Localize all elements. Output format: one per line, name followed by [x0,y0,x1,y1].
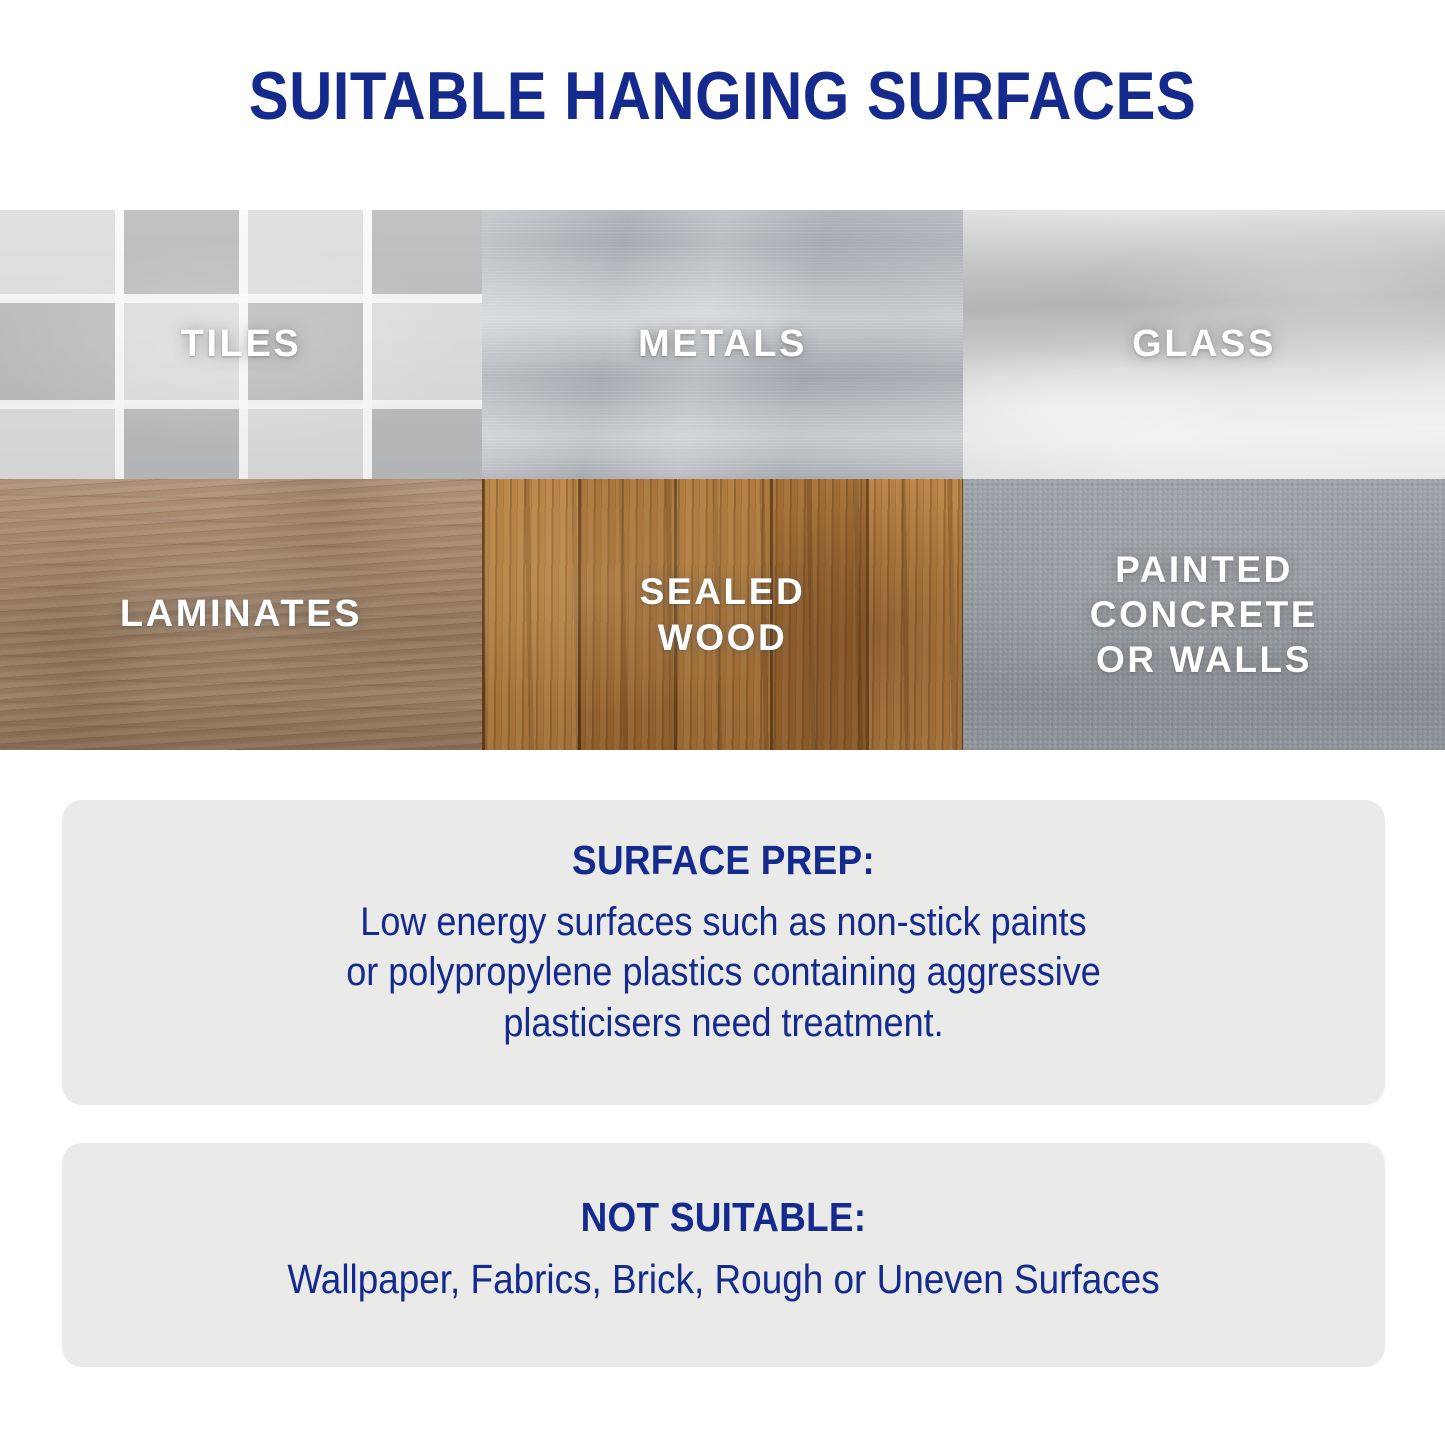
surface-cell-laminates: LAMINATES [0,479,482,750]
surface-label-glass: GLASS [1132,321,1276,367]
surface-prep-line: plasticisers need treatment. [171,998,1275,1048]
surface-cell-painted-concrete: PAINTED CONCRETE OR WALLS [963,479,1445,750]
surface-grid: TILES METALS GLASS LAMINATES SEALED WOOD… [0,210,1445,750]
surface-cell-glass: GLASS [963,210,1445,479]
not-suitable-body: Wallpaper, Fabrics, Brick, Rough or Unev… [171,1254,1275,1306]
surface-label-metals: METALS [638,321,807,367]
surface-label-painted-concrete: PAINTED CONCRETE OR WALLS [1090,547,1318,682]
surface-prep-panel: SURFACE PREP: Low energy surfaces such a… [62,800,1385,1105]
surface-label-laminates: LAMINATES [120,591,362,637]
surface-label-tiles: TILES [181,321,302,367]
not-suitable-panel: NOT SUITABLE: Wallpaper, Fabrics, Brick,… [62,1143,1385,1367]
page-title: SUITABLE HANGING SURFACES [87,62,1359,130]
surface-label-sealed-wood: SEALED WOOD [640,569,806,659]
surface-prep-body: Low energy surfaces such as non-stick pa… [171,897,1275,1048]
surface-prep-heading: SURFACE PREP: [171,838,1275,883]
surface-cell-tiles: TILES [0,210,482,479]
surface-prep-line: or polypropylene plastics containing agg… [171,947,1275,997]
not-suitable-heading: NOT SUITABLE: [171,1195,1275,1240]
surface-cell-metals: METALS [482,210,963,479]
surface-cell-sealed-wood: SEALED WOOD [482,479,963,750]
not-suitable-line: Wallpaper, Fabrics, Brick, Rough or Unev… [171,1254,1275,1306]
surface-prep-line: Low energy surfaces such as non-stick pa… [171,897,1275,947]
